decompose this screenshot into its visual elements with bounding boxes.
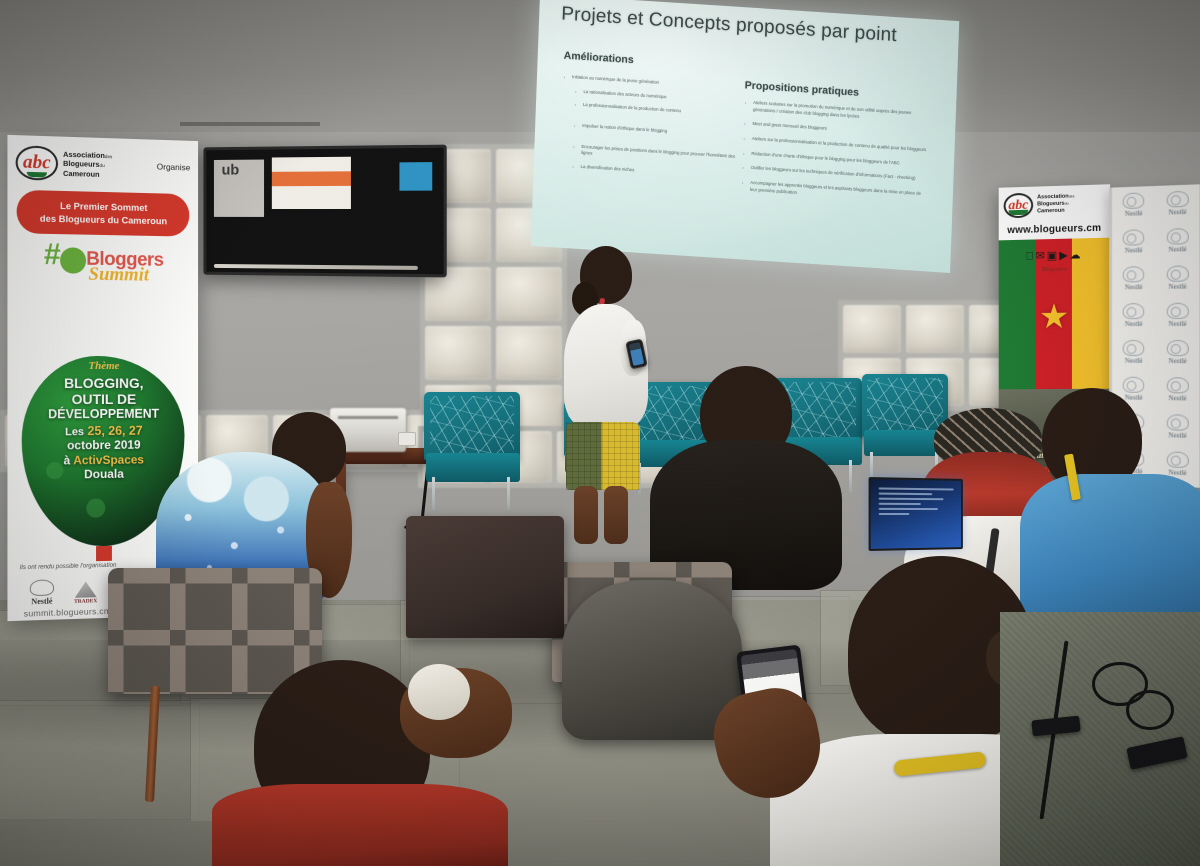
abc-name-line3: Cameroun xyxy=(63,168,100,178)
abc-logo-left: abc Associationdes Blogueursdu Cameroun xyxy=(16,145,113,182)
dark-chair-round xyxy=(562,580,742,740)
laptop-screen xyxy=(869,477,963,551)
dark-chair xyxy=(406,516,564,638)
laptop-screen-content xyxy=(878,488,954,519)
slide-bullet: La diversification des niches xyxy=(572,163,735,180)
sponsor-nestle-label: Nestlé xyxy=(30,596,54,606)
nestle-bird-icon xyxy=(1167,191,1189,208)
social-icons-row: ✉▣▶☁ xyxy=(999,248,1110,263)
slide-column-heading-ameliorations: Améliorations xyxy=(564,50,634,67)
nestle-bird-icon xyxy=(1123,340,1144,356)
presenter-skirt xyxy=(566,422,640,490)
abc-name-des: des xyxy=(1069,194,1075,198)
flag-star-icon: ★ xyxy=(1039,300,1069,334)
chair-leg xyxy=(507,477,510,510)
summit-logo: #Bloggers Summit xyxy=(7,238,198,301)
banner-website: summit.blogueurs.cm xyxy=(24,606,112,619)
chair-pattern xyxy=(430,396,515,456)
slide-bullet: La professionnalisation de la production… xyxy=(574,102,737,119)
slide-bullet: Accompagner les apprentis bloggeurs et l… xyxy=(741,179,926,204)
nestle-bird-icon xyxy=(1167,265,1189,281)
abc-logo-icon: abc xyxy=(16,145,58,181)
nestle-bird-icon xyxy=(30,579,54,596)
slide-bullet: Ateliers scolaires sur la promotion du n… xyxy=(744,99,929,124)
foreground-red-shirt xyxy=(212,784,508,866)
theme-line1: BLOGGING, xyxy=(22,376,185,392)
leaf-icon xyxy=(60,247,86,274)
foreground-held-object xyxy=(408,664,470,720)
nestle-logo-tile: Nestlé xyxy=(1112,186,1155,224)
banner-red-square xyxy=(96,546,112,561)
abc-name-line2: Blogueurs xyxy=(1037,201,1064,208)
slide-bullets-propositions: Ateliers scolaires sur la promotion du n… xyxy=(741,99,929,212)
phone-screen xyxy=(629,342,644,366)
nestle-bird-icon xyxy=(1123,303,1144,319)
tv-reflection-text: ub xyxy=(222,162,240,179)
nestle-bird-icon xyxy=(1167,303,1189,319)
nestle-bird-icon xyxy=(1123,229,1144,245)
presenter xyxy=(556,246,656,546)
tradex-logo-icon xyxy=(75,581,97,598)
nestle-logo-tile: Nestlé xyxy=(1155,334,1199,371)
headline-line2: des Blogueurs du Cameroun xyxy=(23,212,184,228)
sponsor-nestle: Nestlé xyxy=(30,579,54,606)
venue-name: ActivSpaces xyxy=(73,453,144,468)
social-handle: Blogueurs xyxy=(999,266,1110,274)
slide-bullets-ameliorations: Initiation au numérique de la jeune géné… xyxy=(559,74,737,188)
nestle-logo-tile: Nestlé xyxy=(1112,223,1155,261)
chair-back xyxy=(424,392,520,460)
nestle-logo-tile: Nestlé xyxy=(1155,259,1199,297)
abc-name-du: du xyxy=(1065,202,1069,206)
nestle-bird-icon xyxy=(1167,228,1189,245)
abc-name-line3: Cameroun xyxy=(1037,208,1064,215)
organise-label: Organise xyxy=(157,162,191,173)
abc-name-line1: Association xyxy=(1037,194,1069,201)
chair-seat xyxy=(426,453,520,481)
nestle-bird-icon xyxy=(1123,192,1144,209)
nestle-bird-icon xyxy=(1167,340,1189,356)
teal-chair xyxy=(424,392,520,510)
projected-slide: Projets et Concepts proposés par point A… xyxy=(531,0,960,273)
nestle-logo-tile: Nestlé xyxy=(1155,184,1199,223)
tv-reflection-orange xyxy=(272,157,351,209)
dates-prefix: Les xyxy=(65,426,84,438)
cable-coil xyxy=(1126,690,1174,730)
abc-logo-right: abc Associationdes Blogueursdu Cameroun xyxy=(999,184,1110,222)
abc-name-des: des xyxy=(105,154,112,159)
nestle-bird-icon xyxy=(1123,266,1144,282)
photo-scene: Projets et Concepts proposés par point A… xyxy=(0,0,1200,866)
slide-bullet: Impulser la notion d'éthique dans le blo… xyxy=(573,122,736,139)
nestle-logo-tile: Nestlé xyxy=(1112,297,1155,334)
nestle-logo-tile: Nestlé xyxy=(1155,297,1199,334)
presenter-leg xyxy=(604,486,628,544)
abc-name-du: du xyxy=(100,163,105,168)
presenter-leg xyxy=(574,486,598,544)
chair-leg xyxy=(432,477,435,510)
dates-numbers: 25, 26, 27 xyxy=(88,424,143,438)
abc-logo-icon: abc xyxy=(1004,193,1034,219)
tv-reflection-blue xyxy=(399,162,432,191)
sponsor-tradex-label: TRADEX xyxy=(74,598,97,605)
hashtag-icon: # xyxy=(43,238,60,272)
wall-mounted-tv: ub xyxy=(203,145,446,278)
sponsor-logos: Nestlé TRADEX xyxy=(30,578,97,606)
wall-power-outlet xyxy=(398,432,416,446)
venue-prefix: à xyxy=(64,453,71,467)
abc-org-name: Associationdes Blogueursdu Cameroun xyxy=(63,150,112,179)
theme-label: Thème xyxy=(22,360,185,372)
cameroon-flag-graphic: ✉▣▶☁ Blogueurs ★ xyxy=(999,238,1110,390)
nestle-logo-tile: Nestlé xyxy=(1112,334,1155,371)
tv-lightbar xyxy=(214,264,417,270)
banner-headline: Le Premier Sommet des Blogueurs du Camer… xyxy=(17,190,190,237)
sponsor-tradex: TRADEX xyxy=(74,581,97,605)
nestle-logo-tile: Nestlé xyxy=(1112,260,1155,297)
abc-org-name-right: Associationdes Blogueursdu Cameroun xyxy=(1037,193,1074,215)
slide-bullet: Encourager les prises de positions dans … xyxy=(572,143,735,167)
nestle-logo-tile: Nestlé xyxy=(1155,222,1199,260)
laptop xyxy=(869,477,963,551)
slide-column-heading-propositions: Propositions pratiques xyxy=(745,79,860,98)
